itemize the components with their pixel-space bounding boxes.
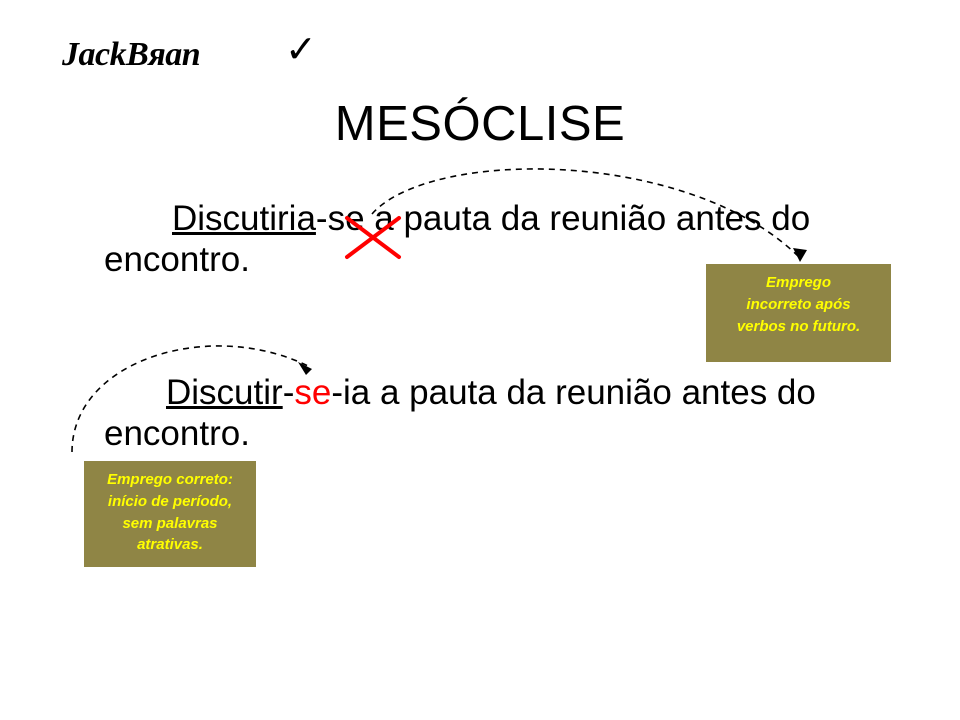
callout-correct-line-1: Emprego correto: (90, 469, 250, 491)
sentence-rest-incorrect: a pauta da reunião antes do (365, 199, 811, 238)
sentence-secondline-correct: encontro. (104, 414, 250, 453)
hyphen1-correct: - (283, 373, 295, 412)
callout-correct-line-4: atrativas. (90, 534, 250, 556)
sentence-rest-correct: a pauta da reunião antes do (370, 373, 816, 412)
slide-canvas: JackBяan ✓ MESÓCLISE Discutiria-se a pau… (0, 0, 960, 720)
verb-underlined-correct: Discutir (166, 373, 283, 412)
callout-incorrect-line-3: verbos no futuro. (712, 316, 885, 338)
brand-logo: JackBяan (62, 36, 200, 74)
callout-correct: Emprego correto: início de período, sem … (84, 461, 256, 567)
clitic-correct: se (294, 373, 331, 412)
hyphen2-correct: - (331, 373, 343, 412)
suffix-correct: ia (343, 373, 370, 412)
callout-correct-line-2: início de período, (90, 491, 250, 513)
callout-correct-line-3: sem palavras (90, 513, 250, 535)
sentence-correct: Discutir-se-ia a pauta da reunião antes … (104, 372, 924, 455)
hyphen-incorrect: - (316, 199, 328, 238)
callout-incorrect-line-1: Emprego (712, 272, 885, 294)
callout-incorrect: Emprego incorreto após verbos no futuro. (706, 264, 891, 362)
clitic-incorrect: se (328, 199, 365, 238)
page-title: MESÓCLISE (0, 96, 960, 152)
check-mark-icon: ✓ (285, 30, 317, 68)
brand-logo-text: JackBяan (62, 36, 200, 73)
sentence-secondline-incorrect: encontro. (104, 240, 250, 279)
verb-underlined-incorrect: Discutiria (172, 199, 316, 238)
callout-incorrect-line-2: incorreto após (712, 294, 885, 316)
